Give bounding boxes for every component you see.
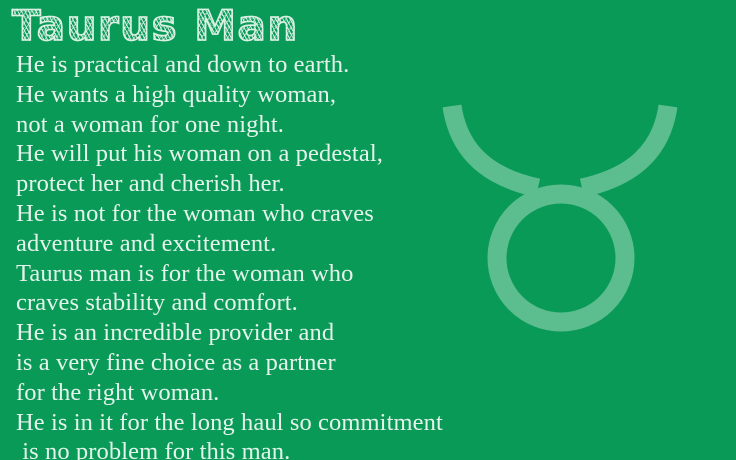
- description-block: He is practical and down to earth. He wa…: [16, 50, 716, 460]
- description-line: He will put his woman on a pedestal,: [16, 139, 716, 169]
- description-line: He is an incredible provider and: [16, 318, 716, 348]
- description-line: He is in it for the long haul so commitm…: [16, 408, 716, 438]
- taurus-man-poster: Taurus Man He is practical and down to e…: [0, 0, 736, 460]
- description-line: adventure and excitement.: [16, 229, 716, 259]
- description-line: He wants a high quality woman,: [16, 80, 716, 110]
- description-line: Taurus man is for the woman who: [16, 259, 716, 289]
- description-line: protect her and cherish her.: [16, 169, 716, 199]
- description-line: craves stability and comfort.: [16, 288, 716, 318]
- description-line: for the right woman.: [16, 378, 716, 408]
- description-line: He is practical and down to earth.: [16, 50, 716, 80]
- description-line: He is not for the woman who craves: [16, 199, 716, 229]
- page-title: Taurus Man: [12, 3, 299, 49]
- page-title-wrapper: Taurus Man: [12, 0, 299, 52]
- description-line: not a woman for one night.: [16, 110, 716, 140]
- description-line: is no problem for this man.: [16, 437, 716, 460]
- description-line: is a very fine choice as a partner: [16, 348, 716, 378]
